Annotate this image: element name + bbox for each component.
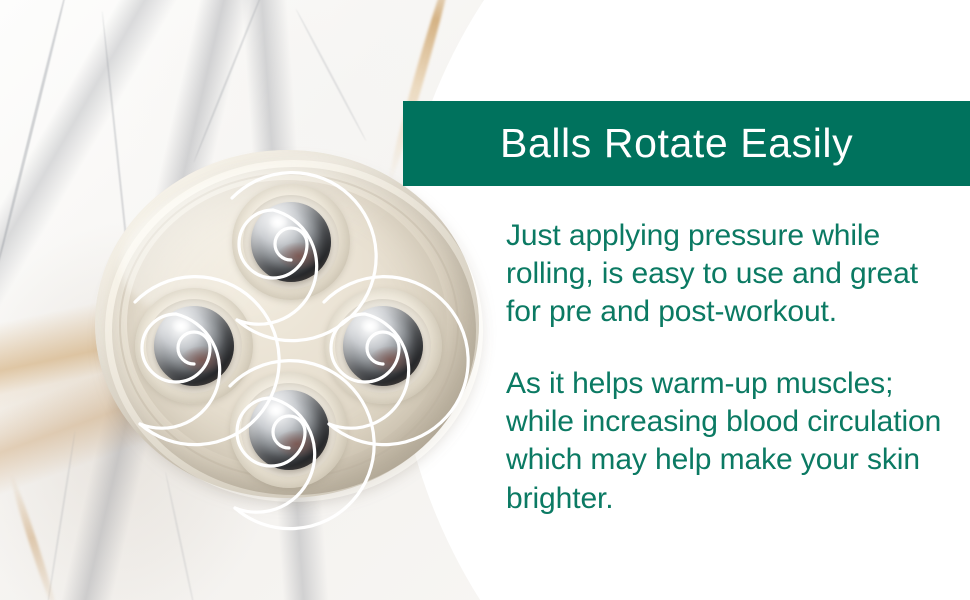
- body-paragraph-1: Just applying pressure while rolling, is…: [506, 217, 958, 331]
- ball-reflection: [369, 346, 413, 374]
- body-copy: Just applying pressure while rolling, is…: [506, 217, 958, 518]
- roller-ball-socket: [230, 372, 348, 488]
- chrome-ball: [249, 390, 329, 470]
- ball-reflection: [180, 346, 224, 374]
- marble-vein-gold: [7, 472, 61, 600]
- headline-banner: Balls Rotate Easily: [403, 101, 970, 186]
- marble-vein-gray: [193, 0, 270, 163]
- body-paragraph-2: As it helps warm-up muscles; while incre…: [506, 365, 958, 517]
- chrome-ball: [251, 202, 331, 282]
- roller-ball-socket: [232, 184, 350, 300]
- chrome-ball: [343, 306, 423, 386]
- ball-reflection: [277, 242, 321, 270]
- marble-vein-gray: [46, 431, 76, 600]
- product-image: [93, 148, 481, 500]
- headline-title: Balls Rotate Easily: [500, 123, 853, 164]
- ball-reflection: [275, 430, 319, 458]
- marble-vein-gray: [295, 8, 367, 141]
- roller-ball-socket: [324, 288, 442, 404]
- roller-ball-socket: [135, 288, 253, 404]
- chrome-ball: [154, 306, 234, 386]
- marble-vein-gray: [0, 0, 69, 276]
- product-feature-banner: Balls Rotate Easily Just applying pressu…: [0, 0, 970, 600]
